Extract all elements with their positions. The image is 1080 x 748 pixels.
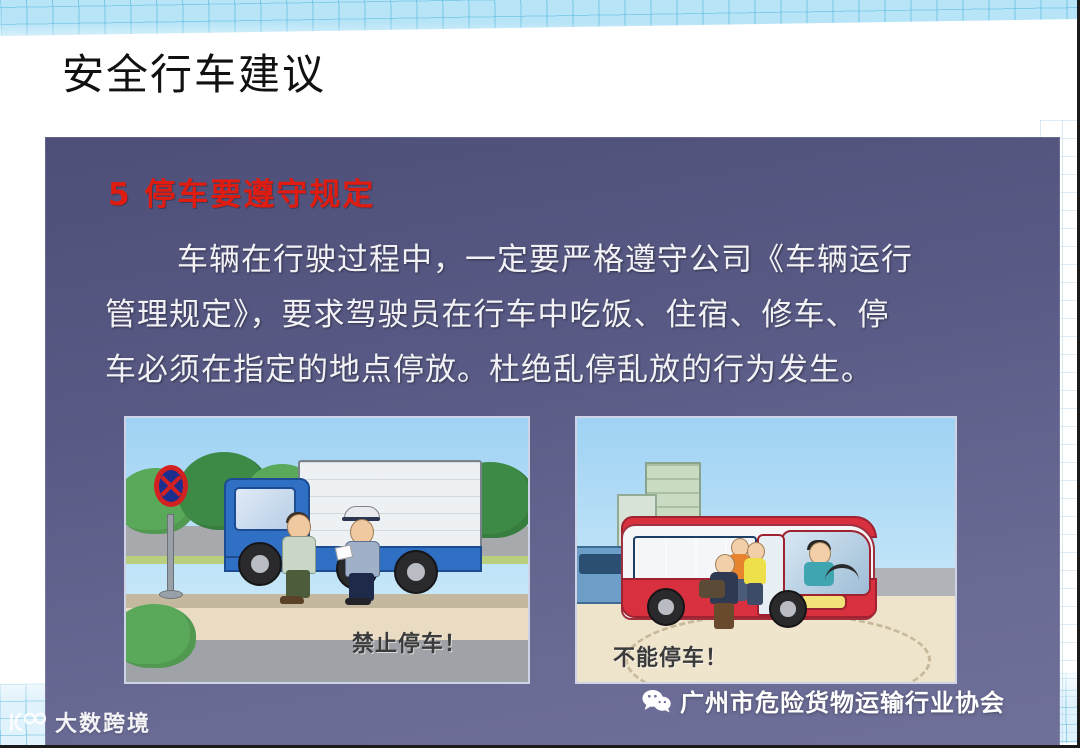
sign-pole bbox=[167, 514, 174, 594]
bus-wheel bbox=[769, 590, 807, 628]
wechat-watermark-label: 广州市危险货物运输行业协会 bbox=[680, 683, 1005, 718]
illustration-caption: 禁止停车！ bbox=[352, 626, 467, 658]
curb-strip bbox=[126, 594, 528, 608]
wechat-icon bbox=[642, 688, 672, 714]
body-copy: 车辆在行驶过程中，一定要严格遵守公司《车辆运行 管理规定》，要求驾驶员在行车中吃… bbox=[105, 233, 1005, 398]
body-line-2: 管理规定》，要求驾驶员在行车中吃饭、住宿、修车、停 bbox=[105, 288, 1005, 343]
body-line-3: 车必须在指定的地点停放。杜绝乱停乱放的行为发生。 bbox=[105, 343, 1005, 398]
shoulder-bag bbox=[699, 580, 725, 598]
wechat-watermark: 广州市危险货物运输行业协会 bbox=[642, 683, 1005, 718]
no-parking-sign-icon bbox=[154, 465, 188, 507]
body-line-1: 车辆在行驶过程中，一定要严格遵守公司《车辆运行 bbox=[105, 233, 1005, 288]
truck-wheel bbox=[394, 550, 438, 594]
illustration-bus-cannot-stop: 不能停车！ bbox=[575, 416, 957, 684]
illustration-no-parking-truck: 禁止停车！ bbox=[124, 416, 530, 684]
illustration-caption: 不能停车！ bbox=[613, 640, 728, 672]
k100-logo-icon bbox=[8, 710, 48, 734]
page-title: 安全行车建议 bbox=[62, 52, 326, 98]
sign-base bbox=[159, 590, 183, 599]
bush-icon bbox=[124, 604, 196, 668]
bus-wheel bbox=[647, 588, 685, 626]
slide-panel: 5 停车要遵守规定 车辆在行驶过程中，一定要严格遵守公司《车辆运行 管理规定》，… bbox=[45, 137, 1060, 748]
brand-watermark: 大数跨境 bbox=[8, 706, 151, 738]
passenger-figure bbox=[743, 542, 767, 604]
section-heading: 5 停车要遵守规定 bbox=[108, 169, 375, 214]
brand-watermark-label: 大数跨境 bbox=[55, 706, 151, 738]
driver-figure bbox=[278, 514, 318, 602]
police-officer-figure bbox=[340, 506, 384, 604]
truck-wheel bbox=[238, 542, 282, 586]
